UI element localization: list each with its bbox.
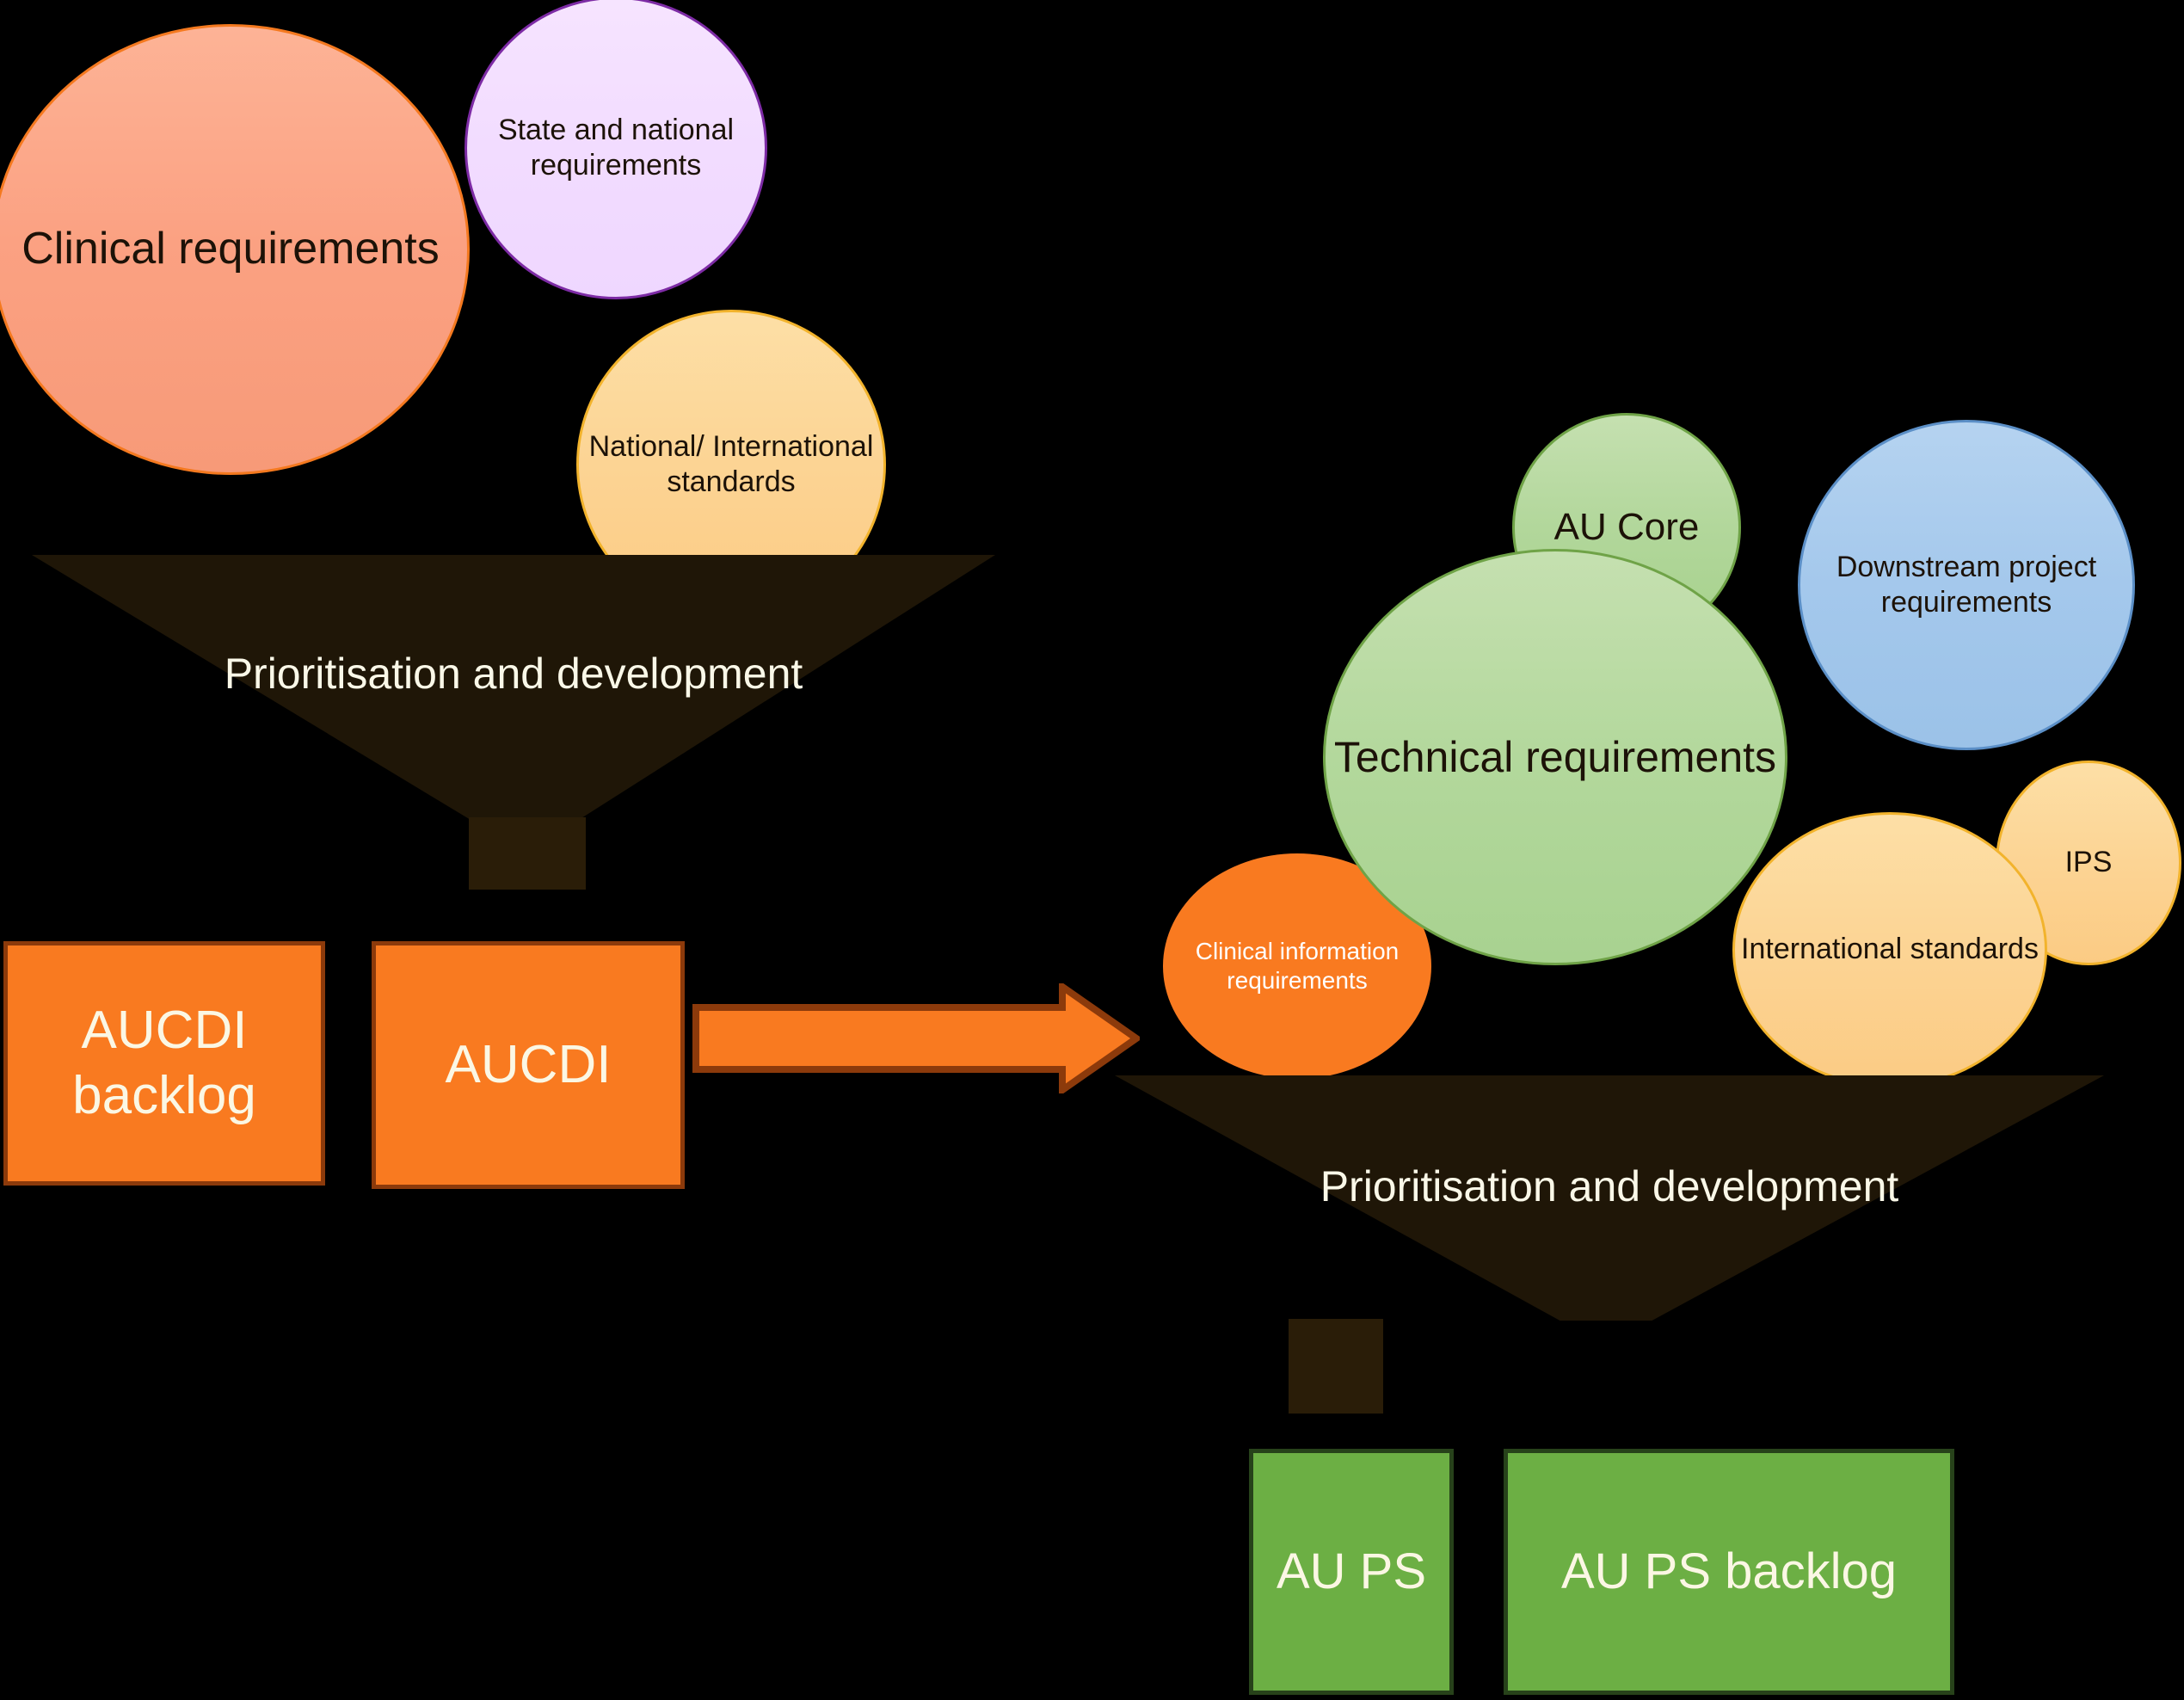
node-aucdi[interactable]: AUCDI xyxy=(372,941,685,1189)
node-clinical-requirements[interactable]: Clinical requirements xyxy=(0,24,470,475)
node-label-au-ps-backlog: AU PS backlog xyxy=(1508,1542,1950,1603)
node-label-clinical-requirements: Clinical requirements xyxy=(0,222,467,276)
node-label-technical-requirements: Technical requirements xyxy=(1326,731,1785,784)
node-label-aucdi-backlog: AUCDI backlog xyxy=(8,998,321,1128)
funnel-label-left: Prioritisation and development xyxy=(32,648,995,726)
node-label-national-international-standards: National/ International standards xyxy=(579,429,883,501)
node-label-international-standards: International standards xyxy=(1735,932,2045,967)
funnel-right-prioritisation-and-development: Prioritisation and development xyxy=(1115,1075,2104,1321)
node-downstream-project-requirements[interactable]: Downstream project requirements xyxy=(1798,420,2135,750)
arrow-right-icon xyxy=(692,983,1140,1093)
node-au-ps-backlog[interactable]: AU PS backlog xyxy=(1504,1449,1954,1695)
funnel-label-right: Prioritisation and development xyxy=(1115,1161,2104,1235)
node-state-and-national-requirements[interactable]: State and national requirements xyxy=(464,0,767,299)
node-technical-requirements[interactable]: Technical requirements xyxy=(1323,549,1787,965)
node-label-clinical-information-requirements: Clinical information requirements xyxy=(1163,937,1431,995)
node-international-standards[interactable]: International standards xyxy=(1732,812,2047,1087)
funnel-left-prioritisation-and-development: Prioritisation and development xyxy=(32,555,995,819)
node-label-downstream-project-requirements: Downstream project requirements xyxy=(1800,550,2132,621)
node-label-au-ps: AU PS xyxy=(1253,1542,1449,1603)
funnel-stem-right xyxy=(1289,1319,1383,1414)
funnel-stem-left xyxy=(469,817,586,890)
node-label-ips: IPS xyxy=(1998,845,2179,880)
node-au-ps[interactable]: AU PS xyxy=(1249,1449,1454,1695)
node-label-au-core: AU Core xyxy=(1515,504,1738,551)
node-aucdi-backlog[interactable]: AUCDI backlog xyxy=(3,941,325,1186)
diagram-canvas: Clinical requirements State and national… xyxy=(0,0,2184,1700)
node-label-state-and-national-requirements: State and national requirements xyxy=(467,113,765,184)
node-label-aucdi: AUCDI xyxy=(376,1032,680,1098)
